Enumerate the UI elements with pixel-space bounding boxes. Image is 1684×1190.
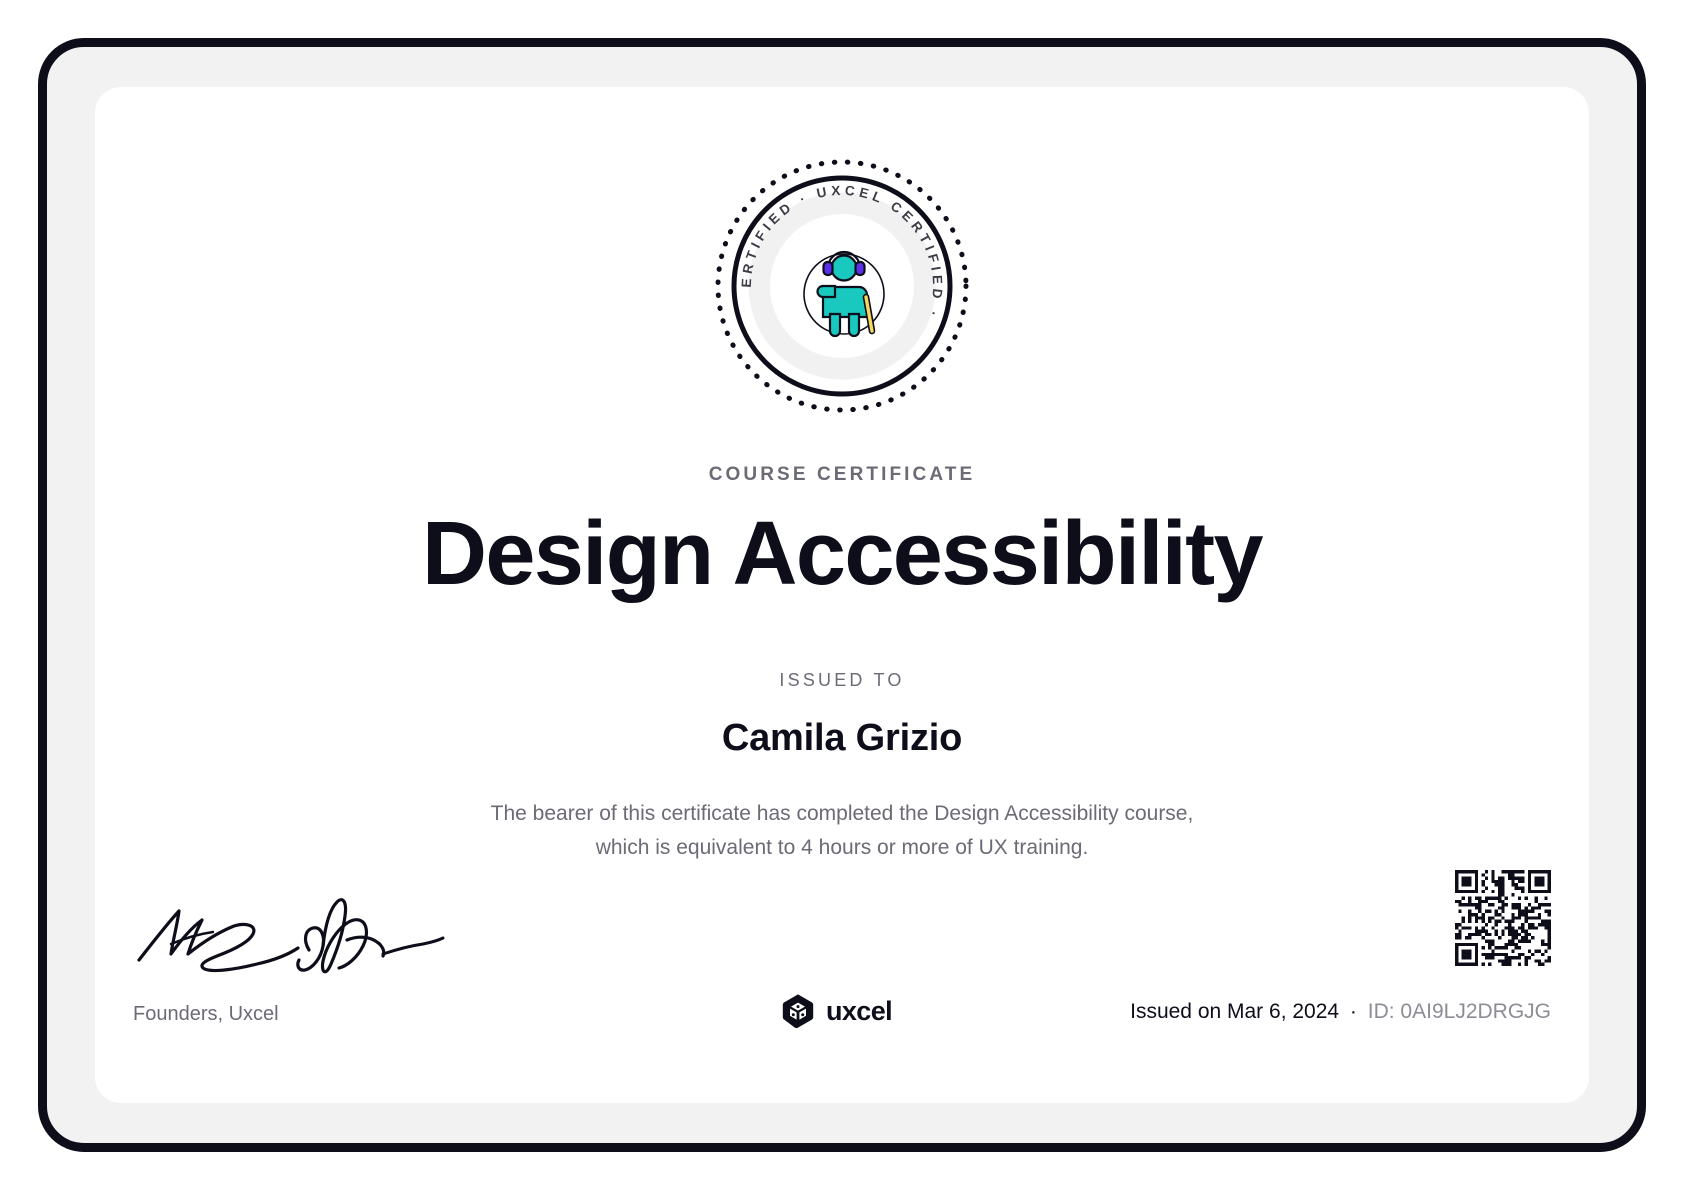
founder-signatures [133,884,463,974]
uxcel-logo: uxcel [780,993,892,1029]
issued-to-label: ISSUED TO [95,670,1589,691]
uxcel-hexagon-icon [780,993,816,1029]
certificate-id: ID: 0AI9LJ2DRGJG [1368,1000,1551,1023]
issue-meta: Issued on Mar 6, 2024 · ID: 0AI9LJ2DRGJG [1130,1000,1551,1024]
qr-code[interactable] [1455,870,1551,966]
course-title: Design Accessibility [95,507,1589,602]
signature-svg [133,884,463,974]
badge-svg: UXCEL CERTIFIED · UXCEL CERTIFIED · [710,154,974,418]
meta-separator: · [1345,1000,1362,1023]
course-certificate-eyebrow: COURSE CERTIFICATE [95,464,1589,486]
qr-code-svg [1455,870,1551,966]
founders-label: Founders, Uxcel [133,1003,279,1026]
certificate-frame: UXCEL CERTIFIED · UXCEL CERTIFIED · [38,38,1646,1152]
description-line-2: which is equivalent to 4 hours or more o… [422,831,1262,865]
certificate-description: The bearer of this certificate has compl… [422,797,1262,865]
uxcel-certified-badge: UXCEL CERTIFIED · UXCEL CERTIFIED · [710,154,974,418]
recipient-name: Camila Grizio [95,717,1589,760]
uxcel-wordmark: uxcel [826,996,892,1027]
certificate-card: UXCEL CERTIFIED · UXCEL CERTIFIED · [95,87,1589,1103]
issued-on-date: Issued on Mar 6, 2024 [1130,1000,1339,1023]
description-line-1: The bearer of this certificate has compl… [422,797,1262,831]
